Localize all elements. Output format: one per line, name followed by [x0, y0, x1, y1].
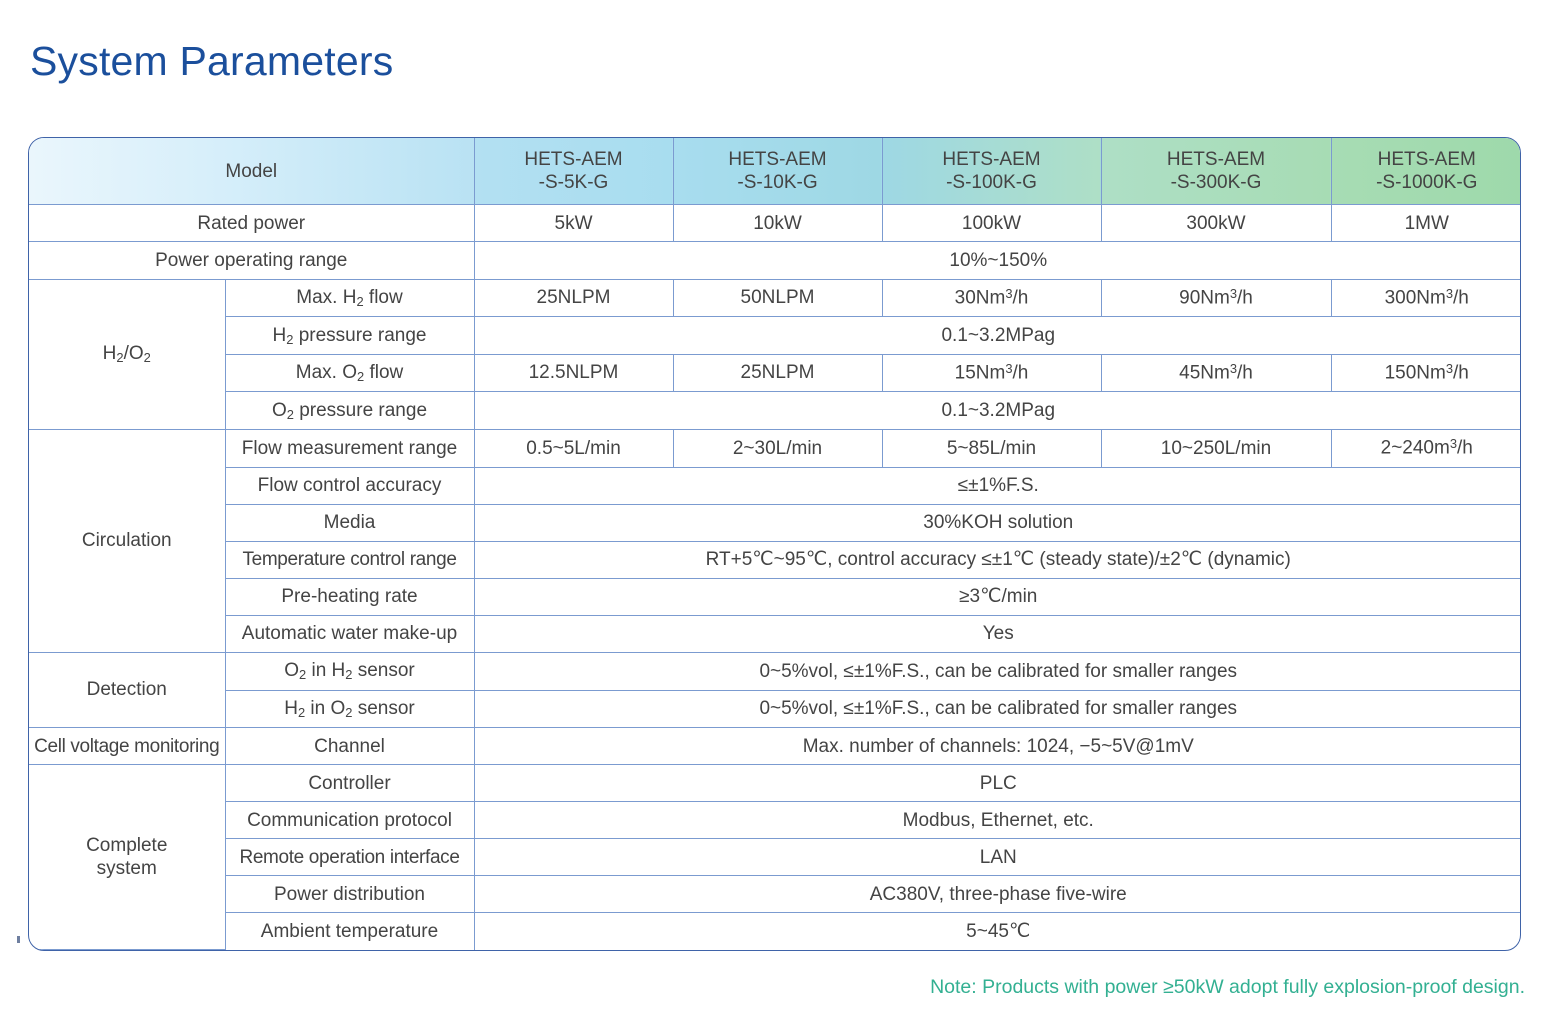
cell-max-o2-flow-10k: 25NLPM: [673, 354, 882, 392]
header-model-line2: -S-5K-G: [539, 172, 609, 193]
table-row: Cell voltage monitoring Channel Max. num…: [29, 728, 1521, 765]
table-row: Circulation Flow measurement range 0.5~5…: [29, 429, 1521, 467]
cell-max-h2-flow-1000k: 300Nm3/h: [1331, 279, 1521, 317]
cell-rated-power-10k: 10kW: [673, 205, 882, 242]
table-row: Communication protocol Modbus, Ethernet,…: [29, 802, 1521, 839]
group-label-line1: Complete: [86, 835, 167, 856]
row-label-temperature-control-range: Temperature control range: [225, 541, 474, 578]
group-label-complete-system: Complete system: [29, 765, 225, 950]
header-column-1000k: HETS-AEM -S-1000K-G: [1331, 138, 1521, 205]
cell-power-operating-range: 10%~150%: [474, 242, 1521, 279]
row-label-max-h2-flow: Max. H2 flow: [225, 279, 474, 317]
edge-artifact-mark: [17, 936, 20, 943]
cell-flow-measurement-10k: 2~30L/min: [673, 429, 882, 467]
group-label-detection: Detection: [29, 652, 225, 727]
header-column-300k: HETS-AEM -S-300K-G: [1101, 138, 1331, 205]
table-row: Automatic water make-up Yes: [29, 615, 1521, 652]
cell-communication-protocol: Modbus, Ethernet, etc.: [474, 802, 1521, 839]
cell-flow-measurement-300k: 10~250L/min: [1101, 429, 1331, 467]
cell-max-o2-flow-300k: 45Nm3/h: [1101, 354, 1331, 392]
cell-channel: Max. number of channels: 1024, −5~5V@1mV: [474, 728, 1521, 765]
cell-max-h2-flow-100k: 30Nm3/h: [882, 279, 1101, 317]
group-label-cell-voltage-monitoring: Cell voltage monitoring: [29, 728, 225, 765]
cell-flow-measurement-5k: 0.5~5L/min: [474, 429, 673, 467]
header-model-label: Model: [29, 138, 474, 205]
row-label-power-operating-range: Power operating range: [29, 242, 474, 279]
row-label-h2-pressure-range: H2 pressure range: [225, 317, 474, 355]
footnote: Note: Products with power ≥50kW adopt fu…: [930, 976, 1525, 999]
header-model-line2: -S-300K-G: [1171, 172, 1262, 193]
cell-automatic-water-make-up: Yes: [474, 615, 1521, 652]
row-label-ambient-temperature: Ambient temperature: [225, 913, 474, 950]
header-model-line1: HETS-AEM: [728, 149, 826, 170]
cell-rated-power-300k: 300kW: [1101, 205, 1331, 242]
row-label-flow-control-accuracy: Flow control accuracy: [225, 467, 474, 504]
group-label-line2: system: [97, 858, 157, 879]
header-column-10k: HETS-AEM -S-10K-G: [673, 138, 882, 205]
table-row: H2 pressure range 0.1~3.2MPag: [29, 317, 1521, 355]
system-parameters-table-container: Model HETS-AEM -S-5K-G HETS-AEM -S-10K-G…: [28, 137, 1521, 951]
table-row: Power distribution AC380V, three-phase f…: [29, 876, 1521, 913]
row-label-rated-power: Rated power: [29, 205, 474, 242]
row-label-controller: Controller: [225, 765, 474, 802]
table-row: H2/O2 Max. H2 flow 25NLPM 50NLPM 30Nm3/h…: [29, 279, 1521, 317]
row-label-automatic-water-make-up: Automatic water make-up: [225, 615, 474, 652]
table-row: Rated power 5kW 10kW 100kW 300kW 1MW: [29, 205, 1521, 242]
row-label-remote-operation-interface: Remote operation interface: [225, 839, 474, 876]
table-row: Remote operation interface LAN: [29, 839, 1521, 876]
row-label-h2-in-o2-sensor: H2 in O2 sensor: [225, 690, 474, 728]
table-row: Max. O2 flow 12.5NLPM 25NLPM 15Nm3/h 45N…: [29, 354, 1521, 392]
row-label-channel: Channel: [225, 728, 474, 765]
cell-max-o2-flow-100k: 15Nm3/h: [882, 354, 1101, 392]
row-label-o2-pressure-range: O2 pressure range: [225, 392, 474, 430]
table-row: Flow control accuracy ≤±1%F.S.: [29, 467, 1521, 504]
cell-ambient-temperature: 5~45℃: [474, 913, 1521, 950]
cell-max-o2-flow-5k: 12.5NLPM: [474, 354, 673, 392]
spec-sheet-page: System Parameters Model HETS-AEM -S-5K-G: [0, 0, 1549, 1012]
header-model-line2: -S-10K-G: [737, 172, 817, 193]
row-label-max-o2-flow: Max. O2 flow: [225, 354, 474, 392]
cell-rated-power-1000k: 1MW: [1331, 205, 1521, 242]
header-column-100k: HETS-AEM -S-100K-G: [882, 138, 1101, 205]
row-label-power-distribution: Power distribution: [225, 876, 474, 913]
row-label-communication-protocol: Communication protocol: [225, 802, 474, 839]
cell-flow-control-accuracy: ≤±1%F.S.: [474, 467, 1521, 504]
cell-rated-power-5k: 5kW: [474, 205, 673, 242]
cell-temperature-control-range: RT+5℃~95℃, control accuracy ≤±1℃ (steady…: [474, 541, 1521, 578]
cell-pre-heating-rate: ≥3℃/min: [474, 578, 1521, 615]
header-model-line2: -S-100K-G: [946, 172, 1037, 193]
table-row: Detection O2 in H2 sensor 0~5%vol, ≤±1%F…: [29, 652, 1521, 690]
table-row: O2 pressure range 0.1~3.2MPag: [29, 392, 1521, 430]
header-model-line1: HETS-AEM: [942, 149, 1040, 170]
page-title: System Parameters: [30, 38, 393, 85]
table-row: Power operating range 10%~150%: [29, 242, 1521, 279]
header-model-line1: HETS-AEM: [524, 149, 622, 170]
header-model-line2: -S-1000K-G: [1376, 172, 1477, 193]
cell-max-h2-flow-10k: 50NLPM: [673, 279, 882, 317]
table-row: Media 30%KOH solution: [29, 504, 1521, 541]
cell-media: 30%KOH solution: [474, 504, 1521, 541]
row-label-media: Media: [225, 504, 474, 541]
cell-max-h2-flow-5k: 25NLPM: [474, 279, 673, 317]
header-model-line1: HETS-AEM: [1378, 149, 1476, 170]
system-parameters-table: Model HETS-AEM -S-5K-G HETS-AEM -S-10K-G…: [29, 138, 1521, 950]
cell-o2-in-h2-sensor: 0~5%vol, ≤±1%F.S., can be calibrated for…: [474, 652, 1521, 690]
header-model-line1: HETS-AEM: [1167, 149, 1265, 170]
table-row: Temperature control range RT+5℃~95℃, con…: [29, 541, 1521, 578]
table-header-row: Model HETS-AEM -S-5K-G HETS-AEM -S-10K-G…: [29, 138, 1521, 205]
cell-flow-measurement-1000k: 2~240m3/h: [1331, 429, 1521, 467]
cell-h2-pressure-range: 0.1~3.2MPag: [474, 317, 1521, 355]
table-row: Ambient temperature 5~45℃: [29, 913, 1521, 950]
row-label-pre-heating-rate: Pre-heating rate: [225, 578, 474, 615]
table-row: H2 in O2 sensor 0~5%vol, ≤±1%F.S., can b…: [29, 690, 1521, 728]
cell-flow-measurement-100k: 5~85L/min: [882, 429, 1101, 467]
row-label-flow-measurement-range: Flow measurement range: [225, 429, 474, 467]
cell-max-h2-flow-300k: 90Nm3/h: [1101, 279, 1331, 317]
cell-controller: PLC: [474, 765, 1521, 802]
cell-rated-power-100k: 100kW: [882, 205, 1101, 242]
cell-h2-in-o2-sensor: 0~5%vol, ≤±1%F.S., can be calibrated for…: [474, 690, 1521, 728]
cell-power-distribution: AC380V, three-phase five-wire: [474, 876, 1521, 913]
cell-o2-pressure-range: 0.1~3.2MPag: [474, 392, 1521, 430]
table-row: Complete system Controller PLC: [29, 765, 1521, 802]
header-column-5k: HETS-AEM -S-5K-G: [474, 138, 673, 205]
cell-max-o2-flow-1000k: 150Nm3/h: [1331, 354, 1521, 392]
cell-remote-operation-interface: LAN: [474, 839, 1521, 876]
row-label-o2-in-h2-sensor: O2 in H2 sensor: [225, 652, 474, 690]
group-label-h2-o2: H2/O2: [29, 279, 225, 429]
group-label-circulation: Circulation: [29, 429, 225, 652]
table-row: Pre-heating rate ≥3℃/min: [29, 578, 1521, 615]
